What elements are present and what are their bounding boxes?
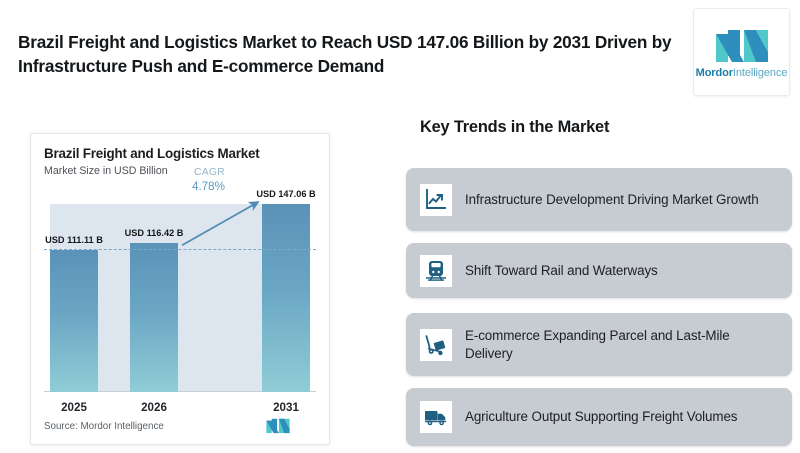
chart-bar-value-label: USD 147.06 B xyxy=(256,189,315,199)
trend-card[interactable]: Agriculture Output Supporting Freight Vo… xyxy=(406,388,792,446)
chart-bar xyxy=(262,204,310,392)
delivery-truck-icon xyxy=(420,401,452,433)
chart-x-tick-label: 2025 xyxy=(61,401,87,414)
trend-card-label: E-commerce Expanding Parcel and Last-Mil… xyxy=(465,327,778,363)
brand-logo: MordorIntelligence xyxy=(693,8,790,96)
chart-bar-value-label: USD 111.11 B xyxy=(45,235,103,245)
chart-plot-area: USD 111.11 B2025USD 116.42 B2026USD 147.… xyxy=(44,194,316,392)
logo-word-secondary: Intelligence xyxy=(733,67,787,79)
chart-bar xyxy=(50,250,98,392)
train-icon xyxy=(420,255,452,287)
chart-x-tick-label: 2031 xyxy=(273,401,299,414)
page-title: Brazil Freight and Logistics Market to R… xyxy=(18,30,678,79)
trend-card-label: Infrastructure Development Driving Marke… xyxy=(465,191,759,209)
chart-title: Brazil Freight and Logistics Market xyxy=(44,146,259,161)
chart-subtitle: Market Size in USD Billion xyxy=(44,165,168,177)
logo-mark-icon xyxy=(714,26,770,64)
logo-word-primary: Mordor xyxy=(696,67,733,79)
cagr-label: CAGR xyxy=(194,167,225,178)
source-logo-icon xyxy=(265,417,291,434)
line-chart-growth-icon xyxy=(420,184,452,216)
trend-card[interactable]: E-commerce Expanding Parcel and Last-Mil… xyxy=(406,313,792,376)
hand-truck-icon xyxy=(420,329,452,361)
trend-card-label: Shift Toward Rail and Waterways xyxy=(465,262,658,280)
chart-x-tick-label: 2026 xyxy=(141,401,167,414)
cagr-value: 4.78% xyxy=(192,180,225,193)
trend-card-label: Agriculture Output Supporting Freight Vo… xyxy=(465,408,737,426)
logo-wordmark: MordorIntelligence xyxy=(696,67,788,79)
chart-source: Source: Mordor Intelligence xyxy=(44,421,164,432)
chart-reference-line xyxy=(44,249,316,250)
chart-bar-value-label: USD 116.42 B xyxy=(125,228,184,238)
market-size-chart-card: Brazil Freight and Logistics Market Mark… xyxy=(30,133,330,445)
trends-heading: Key Trends in the Market xyxy=(420,118,609,137)
trend-card[interactable]: Shift Toward Rail and Waterways xyxy=(406,243,792,298)
trend-card[interactable]: Infrastructure Development Driving Marke… xyxy=(406,168,792,231)
chart-bar xyxy=(130,243,178,392)
